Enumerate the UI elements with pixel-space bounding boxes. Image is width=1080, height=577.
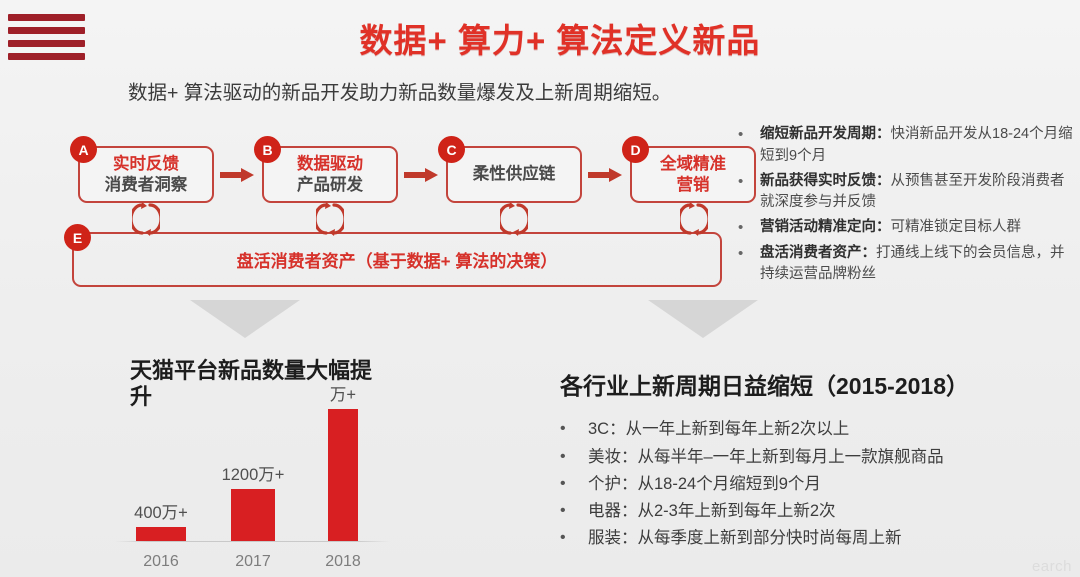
cycle-loop-icon bbox=[680, 202, 708, 236]
flow-box-c-line1: 柔性供应链 bbox=[473, 164, 556, 184]
bullet-dot: • bbox=[560, 417, 588, 442]
industry-bullet-list: • 3C：从一年上新到每年上新2次以上 • 美妆：从每半年–一年上新到每月上一款… bbox=[560, 417, 1075, 550]
chart-category-label: 2017 bbox=[220, 553, 286, 571]
watermark: earch bbox=[1032, 558, 1072, 575]
logo-stripe bbox=[8, 40, 85, 47]
right-arrow-icon bbox=[588, 168, 622, 182]
flow-badge-c: C bbox=[438, 136, 465, 163]
list-item: • 服装：从每季度上新到部分快时尚每周上新 bbox=[560, 526, 1075, 551]
chart-bar-value: 400万+ bbox=[128, 504, 194, 523]
flow-box-b[interactable]: 数据驱动 产品研发 bbox=[262, 146, 398, 203]
page-title: 数据+ 算力+ 算法定义新品 bbox=[300, 14, 820, 62]
intro-paragraph: 数据+ 算法驱动的新品开发助力新品数量爆发及上新周期缩短。 bbox=[128, 80, 728, 108]
list-item-text: 电器：从2-3年上新到每年上新2次 bbox=[588, 499, 836, 524]
list-item-text: 个护：从18-24个月缩短到9个月 bbox=[588, 472, 821, 497]
list-item-text: 美妆：从每半年–一年上新到每月上一款旗舰商品 bbox=[588, 445, 944, 470]
bullet-dot: • bbox=[560, 472, 588, 497]
flow-badge-d: D bbox=[622, 136, 649, 163]
bullet-dot: • bbox=[560, 445, 588, 470]
flow-box-b-line2: 产品研发 bbox=[297, 175, 363, 195]
down-triangle-icon bbox=[190, 300, 300, 338]
bullet-dot: • bbox=[560, 526, 588, 551]
flow-badge-b: B bbox=[254, 136, 281, 163]
logo-stripe bbox=[8, 53, 85, 60]
right-arrow-icon bbox=[220, 168, 254, 182]
flow-box-b-line1: 数据驱动 bbox=[297, 154, 363, 174]
list-item: • 缩短新品开发周期：快消新品开发从18-24个月缩短到9个月 bbox=[738, 124, 1074, 168]
list-item: • 美妆：从每半年–一年上新到每月上一款旗舰商品 bbox=[560, 445, 1075, 470]
flow-box-c[interactable]: 柔性供应链 bbox=[446, 146, 582, 203]
slide-canvas: 数据+ 算力+ 算法定义新品 数据+ 算法驱动的新品开发助力新品数量爆发及上新周… bbox=[0, 0, 1080, 577]
flow-diagram: 实时反馈 消费者洞察 A 数据驱动 产品研发 B 柔性供应链 C 全域精准 营销 bbox=[62, 140, 722, 295]
chart-bar[interactable] bbox=[231, 489, 275, 541]
flow-box-a-line2: 消费者洞察 bbox=[105, 175, 188, 195]
list-item-text: 3C：从一年上新到每年上新2次以上 bbox=[588, 417, 849, 442]
list-item: • 新品获得实时反馈：从预售甚至开发阶段消费者就深度参与并反馈 bbox=[738, 171, 1074, 215]
logo-stripe bbox=[8, 14, 85, 21]
red-stripes-logo bbox=[8, 14, 85, 60]
list-item: • 盘活消费者资产：打通线上线下的会员信息，并持续运营品牌粉丝 bbox=[738, 243, 1074, 287]
flow-box-e[interactable]: 盘活消费者资产（基于数据+ 算法的决策） bbox=[72, 232, 722, 287]
flow-box-d-line2: 营销 bbox=[677, 175, 710, 195]
cycle-loop-icon bbox=[500, 202, 528, 236]
bullet-dot: • bbox=[738, 171, 760, 215]
list-item-text: 营销活动精准定向：可精准锁定目标人群 bbox=[760, 217, 1021, 240]
tmall-new-product-chart: 天猫平台新品数量大幅提升 400万+ 1200万+ 万+ 2016 2017 2… bbox=[110, 352, 400, 577]
flow-badge-a: A bbox=[70, 136, 97, 163]
bullet-dot: • bbox=[738, 243, 760, 287]
flow-box-e-label: 盘活消费者资产（基于数据+ 算法的决策） bbox=[237, 247, 558, 272]
flow-box-a[interactable]: 实时反馈 消费者洞察 bbox=[78, 146, 214, 203]
bullet-dot: • bbox=[560, 499, 588, 524]
industry-cycle-section: 各行业上新周期日益缩短（2015-2018） • 3C：从一年上新到每年上新2次… bbox=[560, 372, 1075, 553]
chart-bar-value: 1200万+ bbox=[220, 466, 286, 485]
list-item: • 个护：从18-24个月缩短到9个月 bbox=[560, 472, 1075, 497]
list-item-bold: 新品获得实时反馈： bbox=[760, 173, 891, 189]
list-item-text: 服装：从每季度上新到部分快时尚每周上新 bbox=[588, 526, 902, 551]
bullet-dot: • bbox=[738, 124, 760, 168]
right-arrow-icon bbox=[404, 168, 438, 182]
chart-bar[interactable] bbox=[328, 409, 358, 541]
list-item-rest: 可精准锁定目标人群 bbox=[891, 219, 1022, 235]
bullet-dot: • bbox=[738, 217, 760, 240]
flow-box-a-line1: 实时反馈 bbox=[113, 154, 179, 174]
list-item-bold: 营销活动精准定向： bbox=[760, 219, 891, 235]
down-triangle-icon bbox=[648, 300, 758, 338]
flow-box-d-line1: 全域精准 bbox=[660, 154, 726, 174]
chart-category-label: 2016 bbox=[128, 553, 194, 571]
list-item-text: 新品获得实时反馈：从预售甚至开发阶段消费者就深度参与并反馈 bbox=[760, 171, 1074, 215]
list-item: • 营销活动精准定向：可精准锁定目标人群 bbox=[738, 217, 1074, 240]
list-item-text: 缩短新品开发周期：快消新品开发从18-24个月缩短到9个月 bbox=[760, 124, 1074, 168]
benefits-list: • 缩短新品开发周期：快消新品开发从18-24个月缩短到9个月 • 新品获得实时… bbox=[738, 124, 1074, 289]
cycle-loop-icon bbox=[132, 202, 160, 236]
logo-stripe bbox=[8, 27, 85, 34]
chart-bar-group: 400万+ bbox=[128, 504, 194, 541]
chart-title: 天猫平台新品数量大幅提升 bbox=[130, 358, 380, 411]
section-heading: 各行业上新周期日益缩短（2015-2018） bbox=[560, 372, 1075, 401]
chart-bar[interactable] bbox=[136, 527, 186, 541]
list-item-bold: 盘活消费者资产： bbox=[760, 245, 876, 261]
list-item-bold: 缩短新品开发周期： bbox=[760, 126, 891, 142]
cycle-loop-icon bbox=[316, 202, 344, 236]
list-item: • 电器：从2-3年上新到每年上新2次 bbox=[560, 499, 1075, 524]
list-item-text: 盘活消费者资产：打通线上线下的会员信息，并持续运营品牌粉丝 bbox=[760, 243, 1074, 287]
chart-plot-area: 400万+ 1200万+ 万+ bbox=[110, 403, 400, 541]
flow-badge-e: E bbox=[64, 224, 91, 251]
chart-bar-group: 1200万+ bbox=[220, 466, 286, 541]
list-item: • 3C：从一年上新到每年上新2次以上 bbox=[560, 417, 1075, 442]
chart-category-label: 2018 bbox=[310, 553, 376, 571]
